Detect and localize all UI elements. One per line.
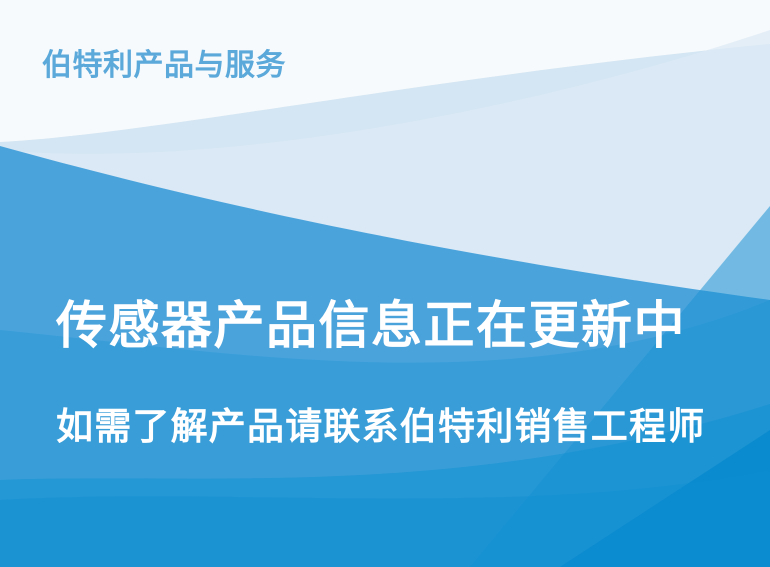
product-placeholder-banner: 伯特利产品与服务 传感器产品信息正在更新中 如需了解产品请联系伯特利销售工程师 (0, 0, 770, 567)
banner-text-layer: 伯特利产品与服务 传感器产品信息正在更新中 如需了解产品请联系伯特利销售工程师 (0, 0, 770, 567)
brand-label: 伯特利产品与服务 (42, 50, 286, 82)
headline-primary: 传感器产品信息正在更新中 (56, 298, 686, 353)
headline-secondary: 如需了解产品请联系伯特利销售工程师 (56, 407, 705, 447)
